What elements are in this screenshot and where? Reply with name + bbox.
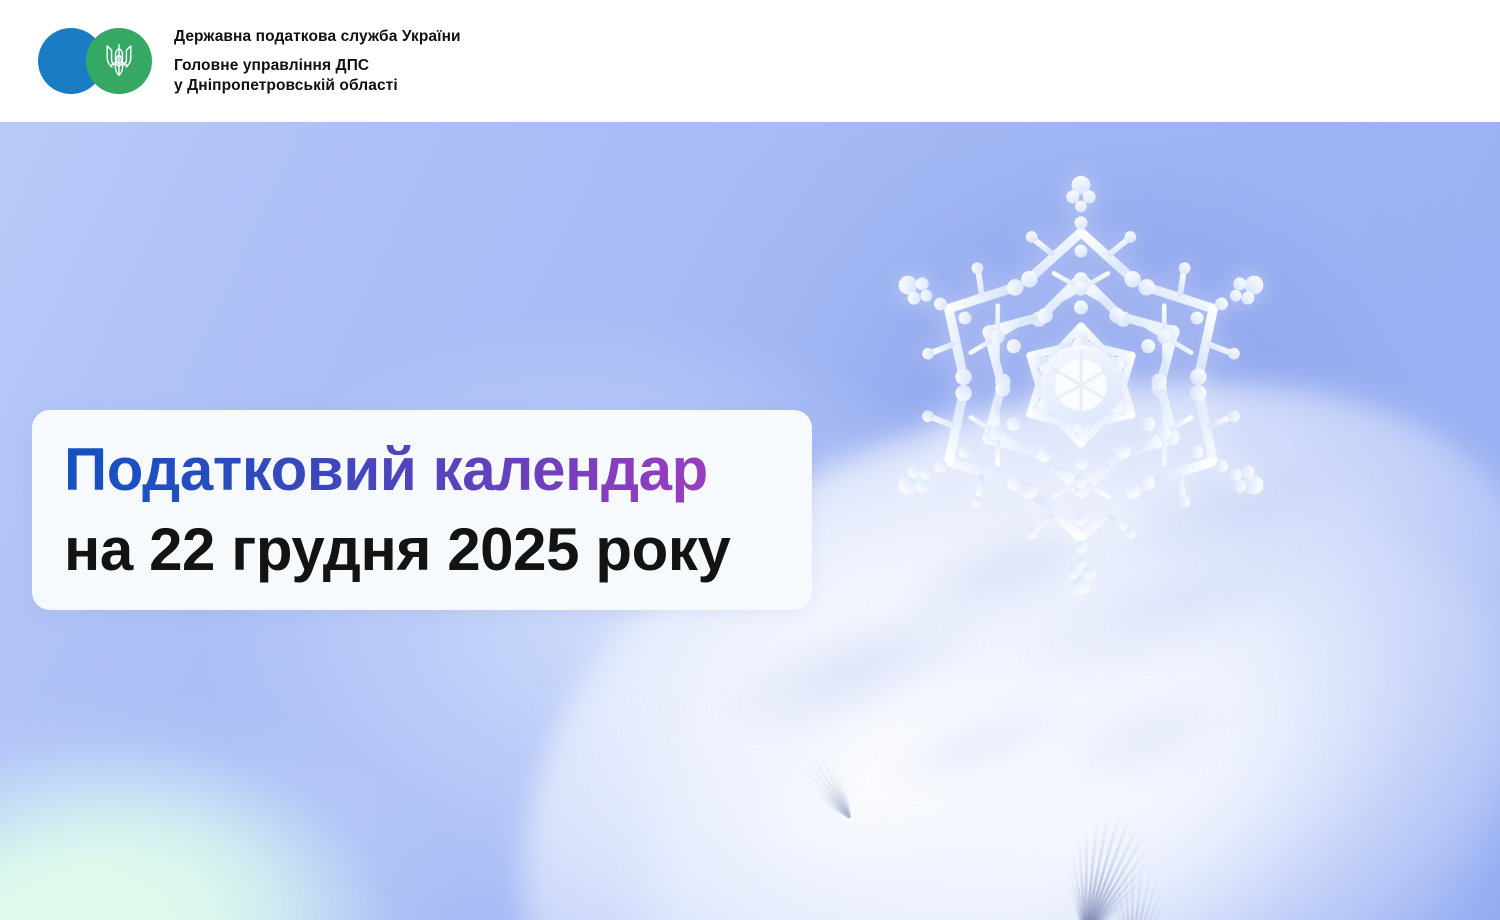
hero-background: Податковий календар на 22 грудня 2025 ро… (0, 122, 1500, 920)
ukraine-trident-icon (102, 41, 136, 81)
department-name: Головне управління ДПС у Дніпропетровськ… (174, 56, 461, 96)
org-identity: Державна податкова служба України Головн… (174, 27, 461, 96)
logo-green-circle (86, 28, 152, 94)
snowflake-icon (846, 150, 1316, 620)
org-name: Державна податкова служба України (174, 27, 461, 47)
page-title-primary: Податковий календар (64, 430, 782, 510)
title-card: Податковий календар на 22 грудня 2025 ро… (32, 410, 812, 610)
site-header: Державна податкова служба України Головн… (0, 0, 1500, 122)
pine-needles-icon-2 (1032, 796, 1248, 920)
department-line-1: Головне управління ДПС (174, 56, 461, 76)
page-title-date: на 22 грудня 2025 року (64, 510, 782, 590)
dps-logo (38, 25, 166, 97)
department-line-2: у Дніпропетровській області (174, 76, 461, 96)
tax-calendar-banner: Державна податкова служба України Головн… (0, 0, 1500, 920)
